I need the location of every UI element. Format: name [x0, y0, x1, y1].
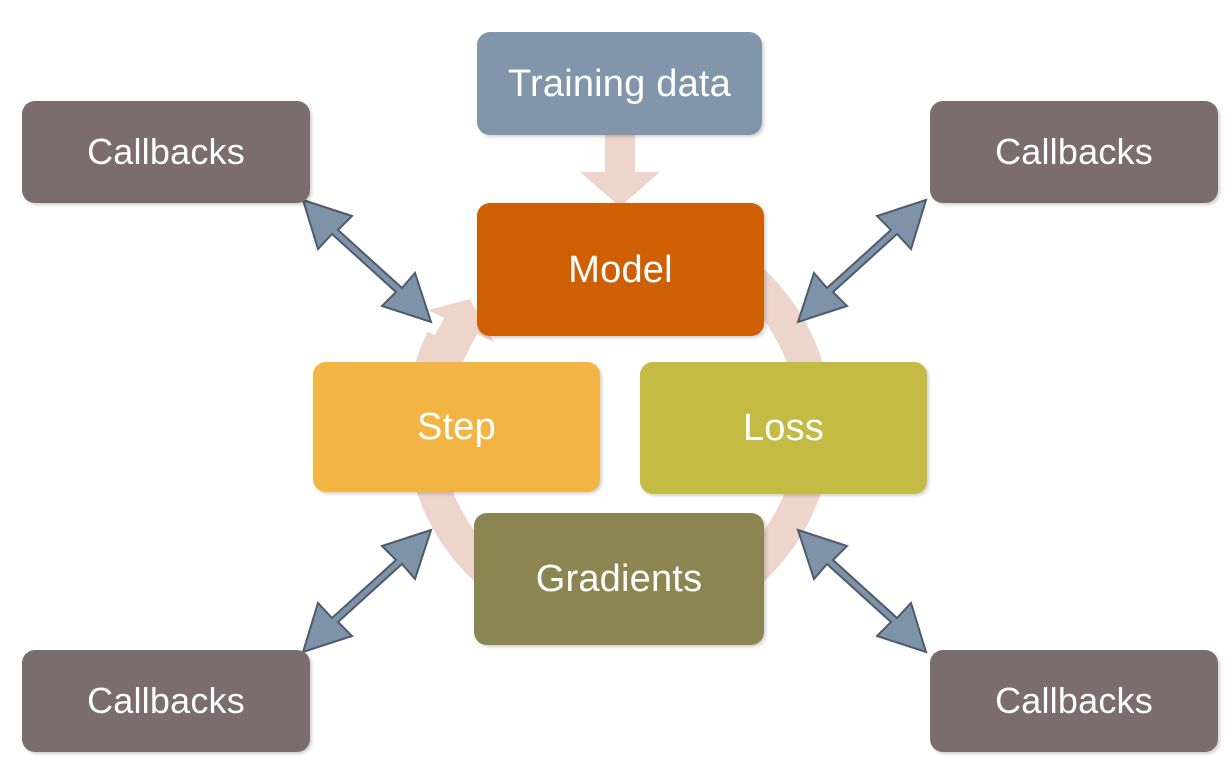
node-callbacks-top-right[interactable]: Callbacks: [930, 101, 1218, 203]
node-callbacks-bottom-right-label: Callbacks: [995, 683, 1153, 719]
node-loss[interactable]: Loss: [640, 362, 927, 494]
node-callbacks-top-left[interactable]: Callbacks: [22, 101, 310, 203]
node-loss-label: Loss: [743, 409, 824, 447]
node-model-label: Model: [568, 251, 673, 289]
node-model[interactable]: Model: [477, 203, 764, 336]
callback-link-top-right[interactable]: [798, 200, 926, 322]
node-callbacks-bottom-left-label: Callbacks: [87, 683, 245, 719]
node-step[interactable]: Step: [313, 362, 600, 492]
callback-link-bottom-right[interactable]: [798, 530, 926, 652]
callback-link-bottom-left[interactable]: [303, 530, 431, 652]
node-training-data[interactable]: Training data: [477, 32, 762, 135]
node-gradients-label: Gradients: [536, 560, 703, 598]
node-training-data-label: Training data: [508, 65, 731, 103]
node-callbacks-bottom-left[interactable]: Callbacks: [22, 650, 310, 752]
callback-link-top-left[interactable]: [303, 200, 431, 322]
node-gradients[interactable]: Gradients: [474, 513, 764, 645]
training-data-to-model-arrow: [580, 135, 660, 207]
diagram-canvas: Training data Model Step Loss Gradients …: [0, 0, 1229, 777]
node-step-label: Step: [417, 408, 496, 446]
node-callbacks-top-left-label: Callbacks: [87, 134, 245, 170]
node-callbacks-bottom-right[interactable]: Callbacks: [930, 650, 1218, 752]
node-callbacks-top-right-label: Callbacks: [995, 134, 1153, 170]
